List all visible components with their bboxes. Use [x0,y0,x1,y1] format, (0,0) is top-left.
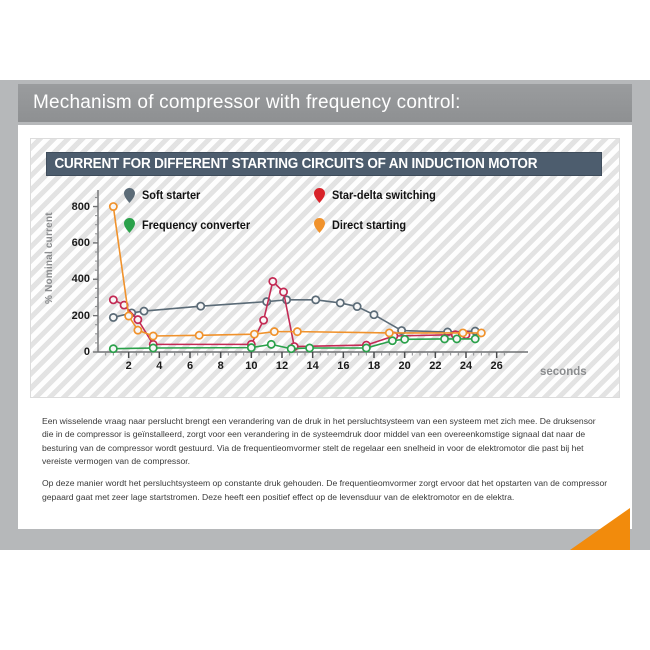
body-paragraph-1: Een wisselende vraag naar perslucht bren… [42,415,608,468]
legend-label: Direct starting [332,220,406,232]
page-title: Mechanism of compressor with frequency c… [18,92,461,114]
legend-label: Star-delta switching [332,190,436,202]
legend-pin-icon [124,218,135,233]
y-tick-label: 0 [52,346,90,358]
x-tick-label: 22 [429,360,441,372]
body-text-box: Een wisselende vraag naar perslucht bren… [30,406,620,524]
chart-panel: CURRENT FOR DIFFERENT STARTING CIRCUITS … [30,138,620,398]
x-tick-label: 18 [368,360,380,372]
legend-pin-icon [314,188,325,203]
x-tick-label: 4 [156,360,162,372]
legend-pin-icon [314,218,325,233]
x-tick-label: 8 [218,360,224,372]
chart-title: CURRENT FOR DIFFERENT STARTING CIRCUITS … [47,156,537,172]
legend-item: Star-delta switching [314,188,441,203]
y-tick-label: 800 [52,201,90,213]
legend-item: Direct starting [314,218,410,233]
legend-label: Frequency converter [142,220,250,232]
plot-area: % Nominal current 0200400600800 24681012… [46,184,602,384]
x-axis-unit-label: seconds [540,366,587,378]
x-tick-label: 16 [337,360,349,372]
x-tick-label: 24 [460,360,472,372]
chart-title-bar: CURRENT FOR DIFFERENT STARTING CIRCUITS … [46,152,602,176]
legend-pin-icon [124,188,135,203]
legend-label: Soft starter [142,190,200,202]
legend-item: Soft starter [124,188,203,203]
x-tick-label: 20 [399,360,411,372]
x-tick-label: 6 [187,360,193,372]
body-paragraph-2: Op deze manier wordt het persluchtsystee… [42,477,608,504]
x-tick-label: 10 [245,360,257,372]
y-tick-label: 200 [52,310,90,322]
legend-item: Frequency converter [124,218,256,233]
chart-svg [46,184,602,384]
y-tick-label: 400 [52,273,90,285]
x-tick-label: 12 [276,360,288,372]
x-tick-label: 26 [491,360,503,372]
slide-root: Mechanism of compressor with frequency c… [0,0,650,650]
header-bar: Mechanism of compressor with frequency c… [18,84,632,122]
x-tick-label: 14 [307,360,319,372]
y-tick-label: 600 [52,237,90,249]
x-tick-label: 2 [126,360,132,372]
